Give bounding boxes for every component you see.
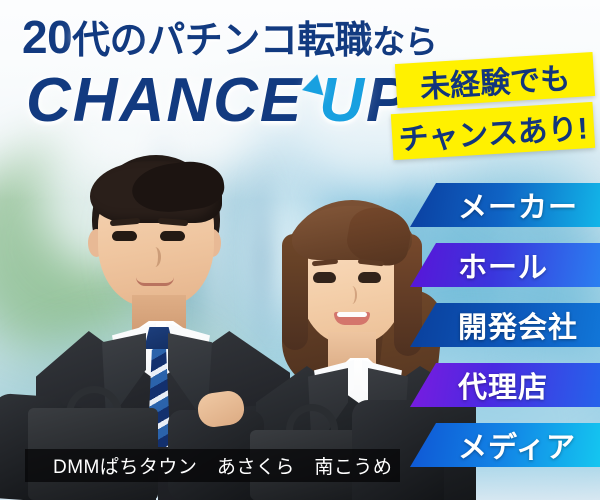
- category-banner-development-company[interactable]: 開発会社: [410, 303, 600, 347]
- caption-bar: DMMぱちタウン あさくら 南こうめ: [25, 449, 400, 482]
- category-label: 代理店: [458, 364, 548, 406]
- woman-eye-left: [313, 272, 336, 283]
- man-eye-left: [112, 231, 137, 241]
- category-label: メディア: [458, 424, 576, 466]
- category-banner-media[interactable]: メディア: [410, 423, 600, 467]
- headline-tail: なら: [372, 23, 437, 60]
- category-label: ホール: [458, 244, 548, 286]
- advertisement-banner[interactable]: 20代のパチンコ転職なら CHANCEUP 未経験でも チャンスあり! メーカー…: [0, 0, 600, 500]
- headline-keyword: パチンコ転職: [147, 20, 372, 62]
- man-mouth: [136, 277, 174, 286]
- man-nose: [149, 247, 161, 267]
- logo-word-chance: CHANCE: [26, 66, 303, 135]
- category-banner-maker[interactable]: メーカー: [410, 183, 600, 227]
- woman-nose: [347, 286, 357, 304]
- category-banner-hall[interactable]: ホール: [410, 243, 600, 287]
- badge-label: 未経験でも: [419, 53, 571, 106]
- woman-eye-right: [358, 272, 381, 283]
- chance-up-logo: CHANCEUP: [26, 70, 409, 132]
- headline-age-suffix: 代の: [72, 20, 147, 62]
- caption-text: DMMぱちタウン あさくら 南こうめ: [53, 452, 392, 479]
- category-banner-agency[interactable]: 代理店: [410, 363, 600, 407]
- headline: 20代のパチンコ転職なら: [22, 14, 437, 60]
- woman-teeth: [337, 312, 367, 317]
- man-eye-right: [160, 231, 185, 241]
- category-label: メーカー: [458, 184, 578, 226]
- headline-age: 20: [22, 11, 72, 63]
- category-label: 開発会社: [458, 304, 578, 346]
